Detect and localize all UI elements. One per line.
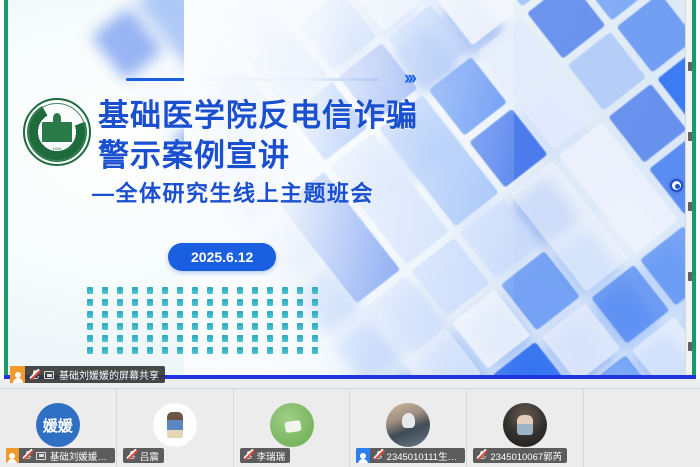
grid-dot: [162, 335, 168, 342]
host-person-icon: [10, 366, 25, 383]
grid-dot: [117, 287, 123, 294]
shared-screen-area[interactable]: ››› 1926 基础医学院反电信诈骗 警示案例宣讲 —全体研究生线上主题班会 …: [0, 0, 700, 379]
grid-dot: [222, 311, 228, 318]
grid-dot: [132, 311, 138, 318]
grid-dot: [147, 299, 153, 306]
avatar-initials: 媛媛: [43, 415, 73, 436]
participant-name-tag: 李瑞瑞: [240, 448, 291, 463]
host-person-icon: [6, 448, 19, 463]
mic-muted-icon: [244, 450, 254, 461]
zoom-meeting-window: ››› 1926 基础医学院反电信诈骗 警示案例宣讲 —全体研究生线上主题班会 …: [0, 0, 700, 467]
grid-dot: [117, 323, 123, 330]
grid-dot: [147, 347, 153, 354]
grid-dot: [87, 335, 93, 342]
slide-title-line2: 警示案例宣讲: [98, 136, 478, 176]
collapsed-right-toolbar[interactable]: [685, 0, 696, 375]
grid-dot: [297, 347, 303, 354]
screen-share-icon: [36, 451, 46, 460]
grid-dot: [117, 311, 123, 318]
participant-name-tag: 2345010067郭芮: [473, 448, 567, 463]
participant-tile[interactable]: 媛媛基础刘媛媛正...: [0, 389, 117, 467]
grid-dot: [177, 347, 183, 354]
grid-dot: [222, 347, 228, 354]
toolbar-button-partial[interactable]: [688, 342, 696, 351]
grid-dot: [297, 311, 303, 318]
participant-tile[interactable]: [584, 389, 700, 467]
grid-dot: [207, 311, 213, 318]
grid-dot: [102, 323, 108, 330]
grid-dot: [207, 323, 213, 330]
grid-dot: [282, 311, 288, 318]
grid-dot: [297, 323, 303, 330]
university-seal-logo: 1926: [21, 96, 93, 168]
host-person-icon: [356, 448, 369, 463]
grid-dot: [222, 323, 228, 330]
presentation-slide[interactable]: ››› 1926 基础医学院反电信诈骗 警示案例宣讲 —全体研究生线上主题班会 …: [4, 0, 696, 375]
grid-dot: [192, 335, 198, 342]
grid-dot: [312, 287, 318, 294]
participant-name: 李瑞瑞: [257, 449, 286, 463]
grid-dot: [87, 299, 93, 306]
grid-dot: [177, 311, 183, 318]
grid-dot: [162, 347, 168, 354]
share-owner-badge: 基础刘媛媛的屏幕共享: [10, 366, 165, 383]
grid-dot: [267, 335, 273, 342]
grid-dot: [147, 323, 153, 330]
avatar: [503, 403, 547, 447]
grid-dot: [252, 335, 258, 342]
grid-dot: [87, 287, 93, 294]
grid-dot: [252, 323, 258, 330]
grid-dot: [237, 335, 243, 342]
grid-dot: [297, 299, 303, 306]
grid-dot: [282, 323, 288, 330]
grid-dot: [237, 323, 243, 330]
annotation-pointer-icon: [670, 179, 683, 192]
grid-dot: [267, 311, 273, 318]
grid-dot: [237, 311, 243, 318]
grid-dot: [312, 311, 318, 318]
participant-tile[interactable]: 2345010067郭芮: [467, 389, 584, 467]
grid-dot: [102, 287, 108, 294]
grid-dot: [87, 311, 93, 318]
grid-dot: [162, 287, 168, 294]
grid-dot: [267, 347, 273, 354]
grid-dot: [267, 287, 273, 294]
grid-dot: [252, 299, 258, 306]
grid-dot: [177, 323, 183, 330]
grid-dot: [132, 335, 138, 342]
grid-dot: [192, 311, 198, 318]
grid-dot: [147, 311, 153, 318]
grid-dot: [237, 299, 243, 306]
slide-dot-grid-decoration: [87, 287, 327, 359]
grid-dot: [117, 299, 123, 306]
grid-dot: [282, 335, 288, 342]
grid-dot: [222, 335, 228, 342]
grid-dot: [102, 311, 108, 318]
grid-dot: [207, 287, 213, 294]
slide-title: 基础医学院反电信诈骗 警示案例宣讲: [98, 96, 478, 175]
grid-dot: [207, 347, 213, 354]
participant-filmstrip[interactable]: 媛媛基础刘媛媛正...吕震李瑞瑞2345010111生理...234501006…: [0, 388, 700, 467]
participant-name-tag: 吕震: [123, 448, 164, 463]
mic-muted-icon: [30, 369, 40, 380]
grid-dot: [177, 287, 183, 294]
grid-dot: [102, 335, 108, 342]
grid-dot: [312, 323, 318, 330]
grid-dot: [177, 335, 183, 342]
participant-tile[interactable]: 2345010111生理...: [350, 389, 467, 467]
grid-dot: [237, 347, 243, 354]
grid-dot: [87, 347, 93, 354]
mic-muted-icon: [374, 450, 384, 461]
grid-dot: [297, 287, 303, 294]
grid-dot: [282, 287, 288, 294]
grid-dot: [177, 299, 183, 306]
grid-dot: [282, 299, 288, 306]
slide-title-line1: 基础医学院反电信诈骗: [98, 96, 478, 136]
grid-dot: [252, 287, 258, 294]
slide-subtitle: —全体研究生线上主题班会: [92, 180, 492, 209]
grid-dot: [282, 347, 288, 354]
grid-dot: [102, 347, 108, 354]
toolbar-button-partial[interactable]: [688, 62, 696, 71]
grid-dot: [267, 323, 273, 330]
grid-dot: [192, 287, 198, 294]
mic-muted-icon: [127, 450, 137, 461]
mic-muted-icon: [477, 450, 487, 461]
participant-name: 2345010111生理...: [387, 449, 461, 463]
avatar: [386, 403, 430, 447]
grid-dot: [207, 335, 213, 342]
grid-dot: [312, 335, 318, 342]
toolbar-button-partial[interactable]: [688, 202, 696, 211]
grid-dot: [162, 299, 168, 306]
grid-dot: [147, 335, 153, 342]
grid-dot: [267, 299, 273, 306]
grid-dot: [252, 347, 258, 354]
grid-dot: [252, 311, 258, 318]
mic-muted-icon: [23, 450, 33, 461]
grid-dot: [102, 299, 108, 306]
title-rule-divider: [126, 78, 378, 81]
grid-dot: [192, 299, 198, 306]
grid-dot: [222, 299, 228, 306]
grid-dot: [132, 299, 138, 306]
share-owner-name: 基础刘媛媛的屏幕共享: [59, 367, 159, 382]
grid-dot: [87, 323, 93, 330]
grid-dot: [192, 347, 198, 354]
grid-dot: [222, 287, 228, 294]
grid-dot: [117, 347, 123, 354]
grid-dot: [147, 287, 153, 294]
grid-dot: [132, 323, 138, 330]
slide-date-badge: 2025.6.12: [168, 243, 276, 271]
avatar: 媛媛: [36, 403, 80, 447]
grid-dot: [162, 311, 168, 318]
grid-dot: [237, 287, 243, 294]
grid-dot: [297, 335, 303, 342]
grid-dot: [207, 299, 213, 306]
participant-name: 2345010067郭芮: [490, 449, 562, 463]
grid-dot: [312, 299, 318, 306]
grid-dot: [117, 335, 123, 342]
avatar: [153, 403, 197, 447]
grid-dot: [162, 323, 168, 330]
grid-dot: [132, 287, 138, 294]
chevrons-right-icon: ›››: [404, 68, 414, 90]
grid-dot: [132, 347, 138, 354]
toolbar-button-partial[interactable]: [688, 132, 696, 141]
grid-dot: [312, 347, 318, 354]
screen-share-icon: [44, 370, 54, 380]
participant-name: 吕震: [140, 449, 159, 463]
participant-tile[interactable]: 李瑞瑞: [234, 389, 351, 467]
participant-name-tag: 2345010111生理...: [356, 448, 465, 463]
participant-tile[interactable]: 吕震: [117, 389, 234, 467]
avatar: [270, 403, 314, 447]
participant-name: 基础刘媛媛正...: [50, 449, 110, 463]
grid-dot: [192, 323, 198, 330]
toolbar-button-partial[interactable]: [688, 272, 696, 281]
participant-name-tag: 基础刘媛媛正...: [6, 448, 115, 463]
